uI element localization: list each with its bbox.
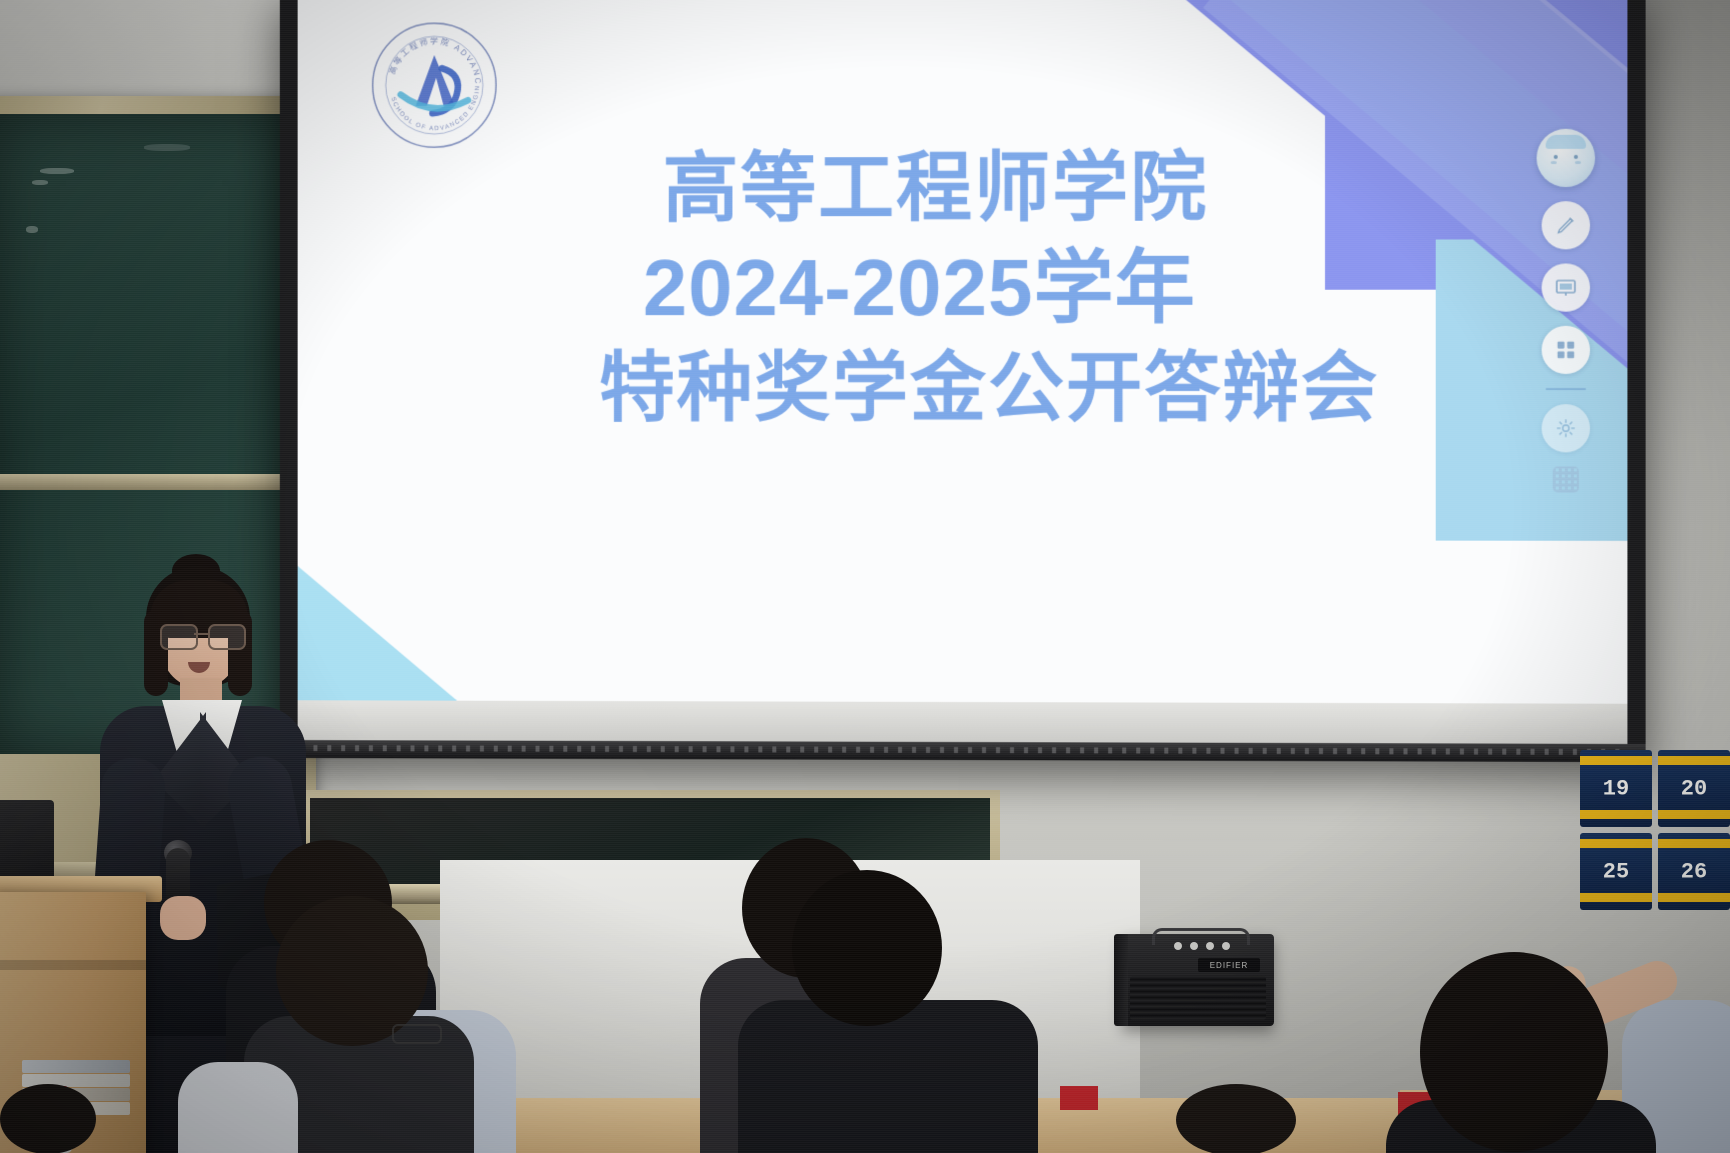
- slide-title-line-3: 特种奖学金公开答辩会: [595, 339, 1607, 437]
- slide-title-line-2: 2024-2025学年: [595, 237, 1607, 340]
- presentation-screen-icon: [1554, 276, 1578, 300]
- locker-number: 19: [1580, 776, 1652, 801]
- pen-tool-button[interactable]: [1542, 201, 1590, 249]
- locker-cell: 20: [1658, 750, 1730, 827]
- locker-number: 20: [1658, 776, 1730, 801]
- projected-slide: 高等工程师学院 ADVANCED SCHOOL OF ADVANCED ENGI…: [298, 0, 1628, 704]
- locker-number: 26: [1658, 859, 1730, 884]
- locker-cell: 19: [1580, 750, 1652, 827]
- eyeglasses: [158, 624, 244, 646]
- lecture-hall-scene: 高等工程师学院 ADVANCED SCHOOL OF ADVANCED ENGI…: [0, 0, 1730, 1153]
- red-item-desk: [1060, 1086, 1098, 1110]
- gear-icon: [1555, 417, 1577, 439]
- tool-rail-divider: [1546, 388, 1586, 390]
- amplifier-grille: [1130, 976, 1266, 1020]
- school-emblem-icon: 高等工程师学院 ADVANCED SCHOOL OF ADVANCED ENGI…: [369, 19, 500, 151]
- projector-screen: 高等工程师学院 ADVANCED SCHOOL OF ADVANCED ENGI…: [280, 0, 1646, 762]
- settings-button[interactable]: [1542, 404, 1590, 452]
- apps-grid-button[interactable]: [1542, 326, 1590, 374]
- locker-cell: 26: [1658, 833, 1730, 910]
- amplifier-brand-label: EDIFIER: [1198, 958, 1260, 972]
- hair-side-left: [144, 610, 168, 696]
- portable-amplifier: EDIFIER: [1122, 934, 1274, 1026]
- svg-text:高等工程师学院 ADVANCED: 高等工程师学院 ADVANCED: [369, 19, 483, 86]
- audience-member-head: [792, 870, 942, 1026]
- svg-text:SCHOOL OF ADVANCED ENGINEERING: SCHOOL OF ADVANCED ENGINEERING: [369, 19, 481, 132]
- audience-member-head: [0, 1084, 96, 1153]
- audience-member-light-jacket: [178, 1062, 298, 1153]
- amplifier-side-rail: [1114, 934, 1128, 1026]
- lectern-shadow: [0, 960, 146, 970]
- robot-assistant-icon[interactable]: [1537, 129, 1596, 187]
- audience-eyeglasses: [392, 1024, 442, 1044]
- floating-tool-rail[interactable]: [1535, 129, 1598, 493]
- locker-cell: 25: [1580, 833, 1652, 910]
- hair-side-right: [228, 610, 252, 696]
- slide-title: 高等工程师学院 2024-2025学年 特种奖学金公开答辩会: [595, 139, 1607, 437]
- grid-apps-icon: [1555, 339, 1577, 361]
- audience-member-body: [738, 1000, 1038, 1153]
- presentation-button[interactable]: [1542, 263, 1590, 311]
- audience-member-head: [1176, 1084, 1296, 1153]
- amplifier-knobs: [1174, 942, 1230, 950]
- slide-background: 高等工程师学院 ADVANCED SCHOOL OF ADVANCED ENGI…: [298, 0, 1628, 704]
- slide-title-line-1: 高等工程师学院: [595, 139, 1607, 238]
- chalkboard-divider: [0, 474, 294, 490]
- pen-icon: [1555, 214, 1577, 236]
- numbered-lockers: 19 20 25 26: [1580, 750, 1730, 910]
- hand-holding-microphone: [160, 896, 206, 940]
- audience-member-head: [1420, 952, 1608, 1152]
- locker-number: 25: [1580, 859, 1652, 884]
- qr-grid-icon[interactable]: [1553, 466, 1579, 492]
